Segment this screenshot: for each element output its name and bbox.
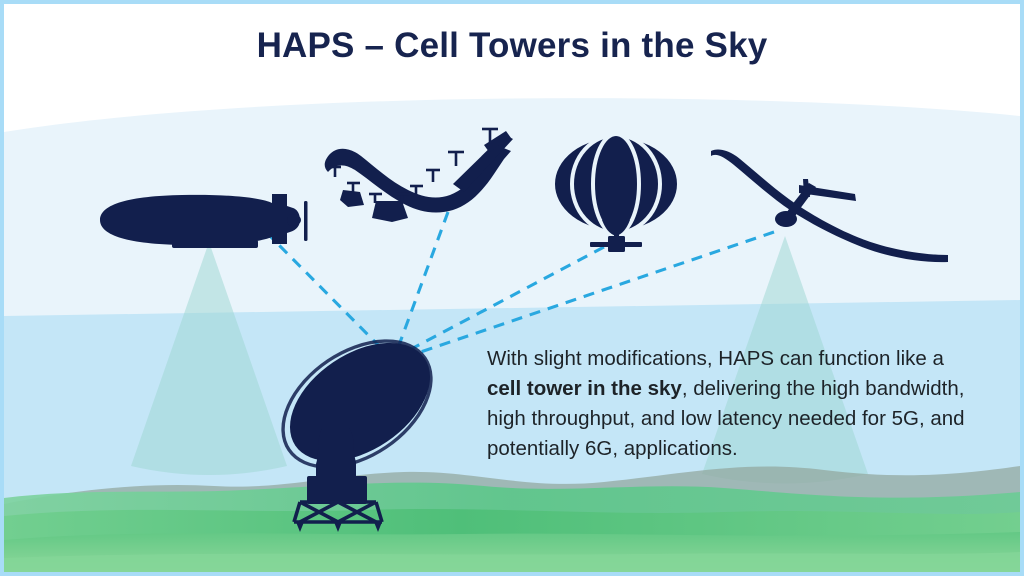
airship-silhouette bbox=[100, 194, 308, 248]
description-text-bold: cell tower in the sky bbox=[487, 377, 682, 400]
description-text-part1: With slight modifications, HAPS can func… bbox=[487, 347, 944, 370]
description-container: With slight modifications, HAPS can func… bbox=[487, 344, 982, 464]
description-paragraph: With slight modifications, HAPS can func… bbox=[487, 344, 982, 464]
slide-canvas: HAPS – Cell Towers in the Sky With sligh… bbox=[0, 0, 1024, 576]
scene-illustration bbox=[4, 4, 1020, 572]
hill-foreground-band bbox=[4, 552, 1020, 572]
